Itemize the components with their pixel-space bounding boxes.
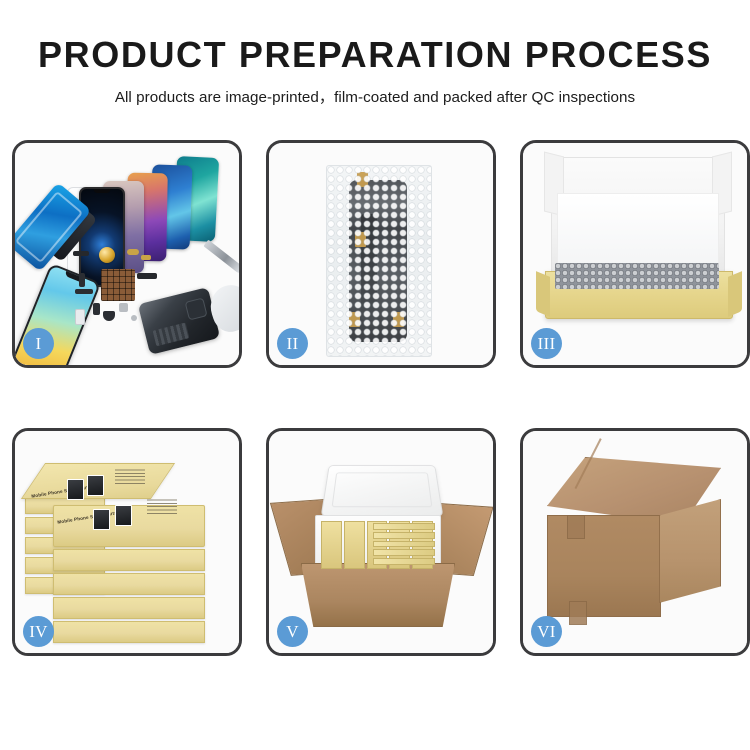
process-step-card-2[interactable]: II bbox=[266, 140, 496, 368]
carton-side-face bbox=[659, 499, 721, 603]
box-label-phone-image bbox=[93, 509, 110, 530]
gold-connector-part bbox=[127, 249, 139, 255]
screw-part bbox=[131, 315, 137, 321]
page-subtitle: All products are image-printed，film-coat… bbox=[0, 85, 750, 107]
yellow-box-item bbox=[321, 521, 342, 569]
yellow-box-item bbox=[373, 558, 435, 565]
camera-bump-icon bbox=[185, 297, 208, 320]
box-label-phone-image bbox=[67, 479, 84, 500]
carton-front-face bbox=[547, 515, 661, 617]
stacked-box bbox=[53, 573, 205, 595]
box-label-phone-image bbox=[87, 475, 104, 496]
gray-bubble-wrap-content bbox=[555, 263, 719, 289]
vibration-motor-part bbox=[99, 247, 115, 263]
process-step-card-3[interactable]: III bbox=[520, 140, 750, 368]
camera-module-part bbox=[119, 303, 128, 312]
step-badge-3: III bbox=[531, 328, 562, 359]
foam-cooler-lid bbox=[321, 465, 444, 516]
carton-tape-tab bbox=[569, 601, 587, 625]
yellow-box-item bbox=[373, 532, 435, 539]
step-badge-6: VI bbox=[531, 616, 562, 647]
sim-tray-part bbox=[75, 309, 85, 325]
ribbon-cable-part bbox=[137, 273, 157, 279]
speaker-part bbox=[93, 303, 100, 315]
box-label-spec-lines bbox=[147, 497, 177, 514]
phone-notch-icon bbox=[94, 189, 111, 193]
process-step-card-1[interactable]: I bbox=[12, 140, 242, 368]
screw-map-board bbox=[101, 269, 135, 301]
antenna-flex-part bbox=[75, 289, 93, 294]
process-step-card-4[interactable]: Mobile Phone Spare Parts Mobile Phone Sp… bbox=[12, 428, 242, 656]
page-header: PRODUCT PREPARATION PROCESS All products… bbox=[0, 0, 750, 107]
flex-cable-part bbox=[73, 251, 89, 256]
yellow-box-item bbox=[373, 523, 435, 530]
yellow-box-item bbox=[373, 549, 435, 556]
gold-bracket-part bbox=[141, 255, 151, 260]
stacked-box bbox=[53, 597, 205, 619]
page-title: PRODUCT PREPARATION PROCESS bbox=[0, 36, 750, 74]
carton-tape-tab bbox=[567, 515, 585, 539]
step-badge-1: I bbox=[23, 328, 54, 359]
box-label-spec-lines bbox=[115, 467, 145, 484]
step-badge-5: V bbox=[277, 616, 308, 647]
yellow-boxes-row-stacked bbox=[373, 523, 435, 565]
step-badge-2: II bbox=[277, 328, 308, 359]
foam-sheet bbox=[557, 193, 719, 267]
process-step-card-6[interactable]: VI bbox=[520, 428, 750, 656]
bubble-wrap-bag bbox=[326, 165, 432, 357]
stacked-box bbox=[53, 621, 205, 643]
process-step-card-5[interactable]: V bbox=[266, 428, 496, 656]
battery-part bbox=[153, 322, 190, 346]
step-badge-4: IV bbox=[23, 616, 54, 647]
bubble-texture bbox=[327, 166, 431, 356]
yellow-box-item bbox=[373, 541, 435, 548]
box-label-phone-image bbox=[115, 505, 132, 526]
process-step-grid: I II III bbox=[12, 140, 738, 656]
yellow-box-item bbox=[344, 521, 365, 569]
bracket-part bbox=[79, 273, 85, 287]
carton-body bbox=[301, 563, 455, 627]
stacked-box bbox=[53, 549, 205, 571]
